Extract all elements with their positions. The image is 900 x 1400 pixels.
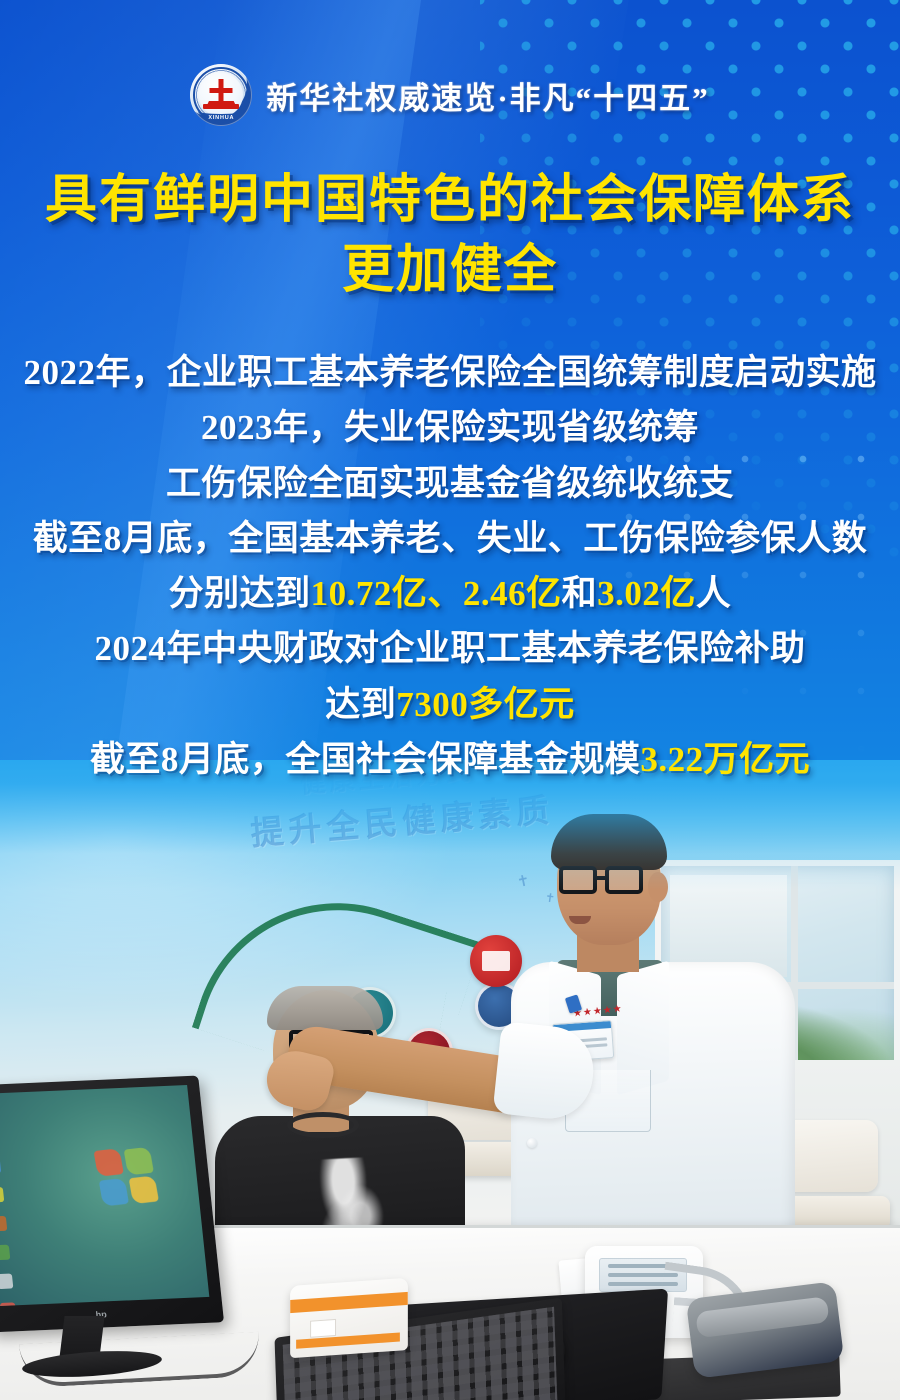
header-title: 新华社权威速览·非凡“十四五” — [266, 73, 709, 118]
device-band-top — [290, 1292, 408, 1313]
stat-value-pension-enrollment: 10.72亿 — [311, 574, 428, 613]
statement-line-7: 达到7300多亿元 — [0, 677, 900, 732]
statement-5-separator-1: 、 — [427, 574, 463, 613]
cuff-strap — [695, 1296, 829, 1338]
doctor-ear — [648, 872, 668, 902]
statement-line-5: 分别达到10.72亿、2.46亿和3.02亿人 — [0, 566, 900, 621]
xinhua-logo-icon: XINHUA — [190, 64, 252, 126]
chair-right-back — [782, 1120, 878, 1192]
statement-5-prefix: 分别达到 — [169, 574, 311, 613]
stat-value-ssf-scale: 3.22万亿元 — [640, 740, 810, 779]
statement-line-8: 截至8月底，全国社会保障基金规模3.22万亿元 — [0, 732, 900, 787]
main-title-line-2: 更加健全 — [0, 235, 900, 305]
device-label — [310, 1319, 336, 1338]
doctor-hair — [551, 814, 667, 870]
statement-line-1: 2022年，企业职工基本养老保险全国统筹制度启动实施 — [0, 345, 900, 400]
logo-tower-icon — [219, 79, 224, 103]
statement-list: 2022年，企业职工基本养老保险全国统筹制度启动实施 2023年，失业保险实现省… — [0, 345, 900, 787]
statement-8-prefix: 截至8月底，全国社会保障基金规模 — [90, 740, 641, 779]
monitor-base — [21, 1347, 162, 1381]
patient-collar — [287, 1112, 359, 1138]
statement-7-prefix: 达到 — [325, 685, 396, 724]
doctor-lens-left — [559, 866, 597, 894]
doctor-glasses-bridge — [597, 876, 607, 880]
stat-value-injury-enrollment: 3.02亿 — [597, 574, 696, 613]
stat-value-unemployment-enrollment: 2.46亿 — [463, 574, 562, 613]
computer-monitor: hp — [0, 1080, 226, 1400]
orange-medical-device — [290, 1278, 408, 1358]
statement-line-2: 2023年，失业保险实现省级统筹 — [0, 400, 900, 455]
statement-line-6: 2024年中央财政对企业职工基本养老保险补助 — [0, 621, 900, 676]
statement-5-suffix: 人 — [696, 574, 732, 613]
stat-value-central-subsidy: 7300多亿元 — [396, 685, 575, 724]
statement-line-3: 工伤保险全面实现基金省级统收统支 — [0, 456, 900, 511]
doctor-glasses-icon — [559, 866, 647, 896]
doctor-figure: ★★★★★ — [505, 820, 795, 1290]
desktop-icons — [0, 1100, 18, 1306]
statement-line-4: 截至8月底，全国基本养老、失业、工伤保险参保人数 — [0, 511, 900, 566]
patient-hair — [267, 986, 383, 1030]
poster-header: XINHUA 新华社权威速览·非凡“十四五” — [0, 64, 900, 126]
doctor-lens-right — [605, 866, 643, 894]
monitor-bezel: hp — [0, 1076, 224, 1333]
main-title-line-1: 具有鲜明中国特色的社会保障体系 — [0, 165, 900, 235]
statement-5-conjunction: 和 — [562, 574, 598, 613]
infographic-poster: XINHUA 新华社权威速览·非凡“十四五” 具有鲜明中国特色的社会保障体系 更… — [0, 0, 900, 1400]
logo-arc-text: XINHUA — [190, 115, 252, 121]
main-title: 具有鲜明中国特色的社会保障体系 更加健全 — [0, 165, 900, 305]
windows-logo-icon — [93, 1144, 161, 1208]
monitor-screen — [0, 1085, 209, 1306]
clinic-photograph: 健康生活方式 提升全民健康素质 ✝ ✝ ✝ — [0, 760, 900, 1400]
